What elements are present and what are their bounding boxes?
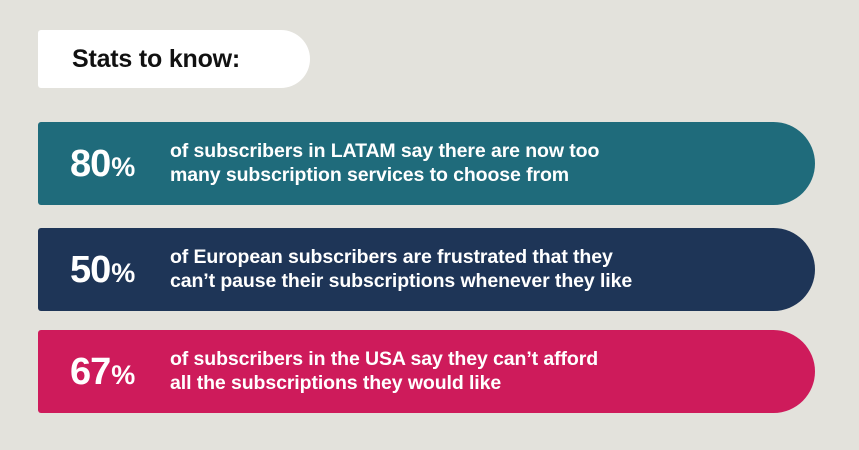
stat-percentage-value: 80 <box>70 145 110 183</box>
stat-bar-usa: 67% of subscribers in the USA say they c… <box>38 330 815 413</box>
stat-description-line-1: of European subscribers are frustrated t… <box>170 246 765 270</box>
stat-description-line-2: many subscription services to choose fro… <box>170 164 765 188</box>
header-pill: Stats to know: <box>38 30 310 88</box>
infographic-canvas: Stats to know: 80% of subscribers in LAT… <box>0 0 859 450</box>
stat-bar-europe: 50% of European subscribers are frustrat… <box>38 228 815 311</box>
stat-bar-latam: 80% of subscribers in LATAM say there ar… <box>38 122 815 205</box>
stat-description-usa: of subscribers in the USA say they can’t… <box>170 348 815 396</box>
percent-sign-icon: % <box>111 362 135 389</box>
stat-percentage-value: 67 <box>70 353 110 391</box>
stat-description-line-2: all the subscriptions they would like <box>170 372 765 396</box>
page-title: Stats to know: <box>72 45 240 74</box>
stat-description-line-2: can’t pause their subscriptions whenever… <box>170 270 765 294</box>
stat-description-europe: of European subscribers are frustrated t… <box>170 246 815 294</box>
stat-percentage-europe: 50% <box>38 251 170 289</box>
stat-description-line-1: of subscribers in LATAM say there are no… <box>170 140 765 164</box>
stat-percentage-usa: 67% <box>38 353 170 391</box>
percent-sign-icon: % <box>111 260 135 287</box>
stat-percentage-latam: 80% <box>38 145 170 183</box>
percent-sign-icon: % <box>111 154 135 181</box>
stat-description-line-1: of subscribers in the USA say they can’t… <box>170 348 765 372</box>
stat-percentage-value: 50 <box>70 251 110 289</box>
stat-description-latam: of subscribers in LATAM say there are no… <box>170 140 815 188</box>
